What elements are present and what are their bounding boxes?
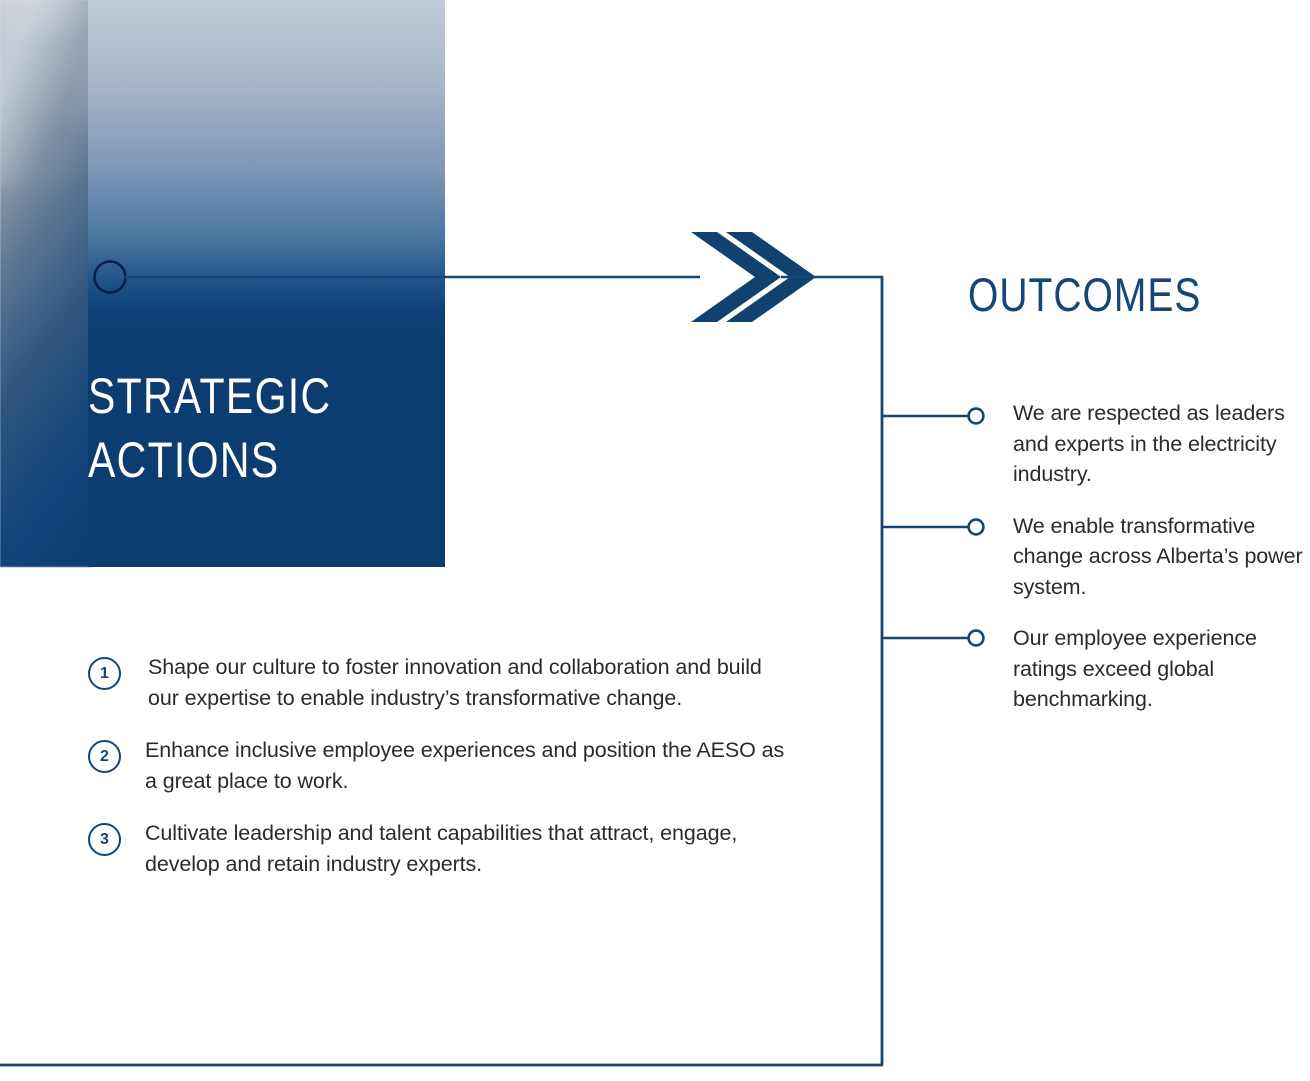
action-number-badge: 1 xyxy=(88,657,121,690)
page-title: STRATEGIC ACTIONS xyxy=(88,364,367,492)
slide-canvas: STRATEGIC ACTIONS OUTCOMES xyxy=(0,0,1310,1081)
double-chevron-right-icon xyxy=(691,232,816,322)
action-item: 2 Enhance inclusive employee experiences… xyxy=(88,735,788,796)
action-number-badge: 2 xyxy=(88,740,121,773)
outcome-item: We are respected as leaders and experts … xyxy=(1013,398,1310,490)
strategic-actions-list: 1 Shape our culture to foster innovation… xyxy=(88,652,788,901)
action-item-text: Cultivate leadership and talent capabili… xyxy=(145,818,788,879)
outcomes-list: We are respected as leaders and experts … xyxy=(1013,398,1310,715)
action-item-text: Shape our culture to foster innovation a… xyxy=(148,652,788,713)
action-item: 1 Shape our culture to foster innovation… xyxy=(88,652,788,713)
circle-node-icon-2 xyxy=(969,520,984,535)
circle-node-icon-3 xyxy=(969,631,984,646)
outcomes-heading: OUTCOMES xyxy=(968,269,1201,321)
action-item-text: Enhance inclusive employee experiences a… xyxy=(145,735,788,796)
outcome-item: Our employee experience ratings exceed g… xyxy=(1013,623,1310,715)
circle-node-icon-1 xyxy=(969,409,984,424)
action-number-badge: 3 xyxy=(88,823,121,856)
outcome-item: We enable transformative change across A… xyxy=(1013,511,1310,603)
background-photo xyxy=(0,0,92,567)
action-item: 3 Cultivate leadership and talent capabi… xyxy=(88,818,788,879)
